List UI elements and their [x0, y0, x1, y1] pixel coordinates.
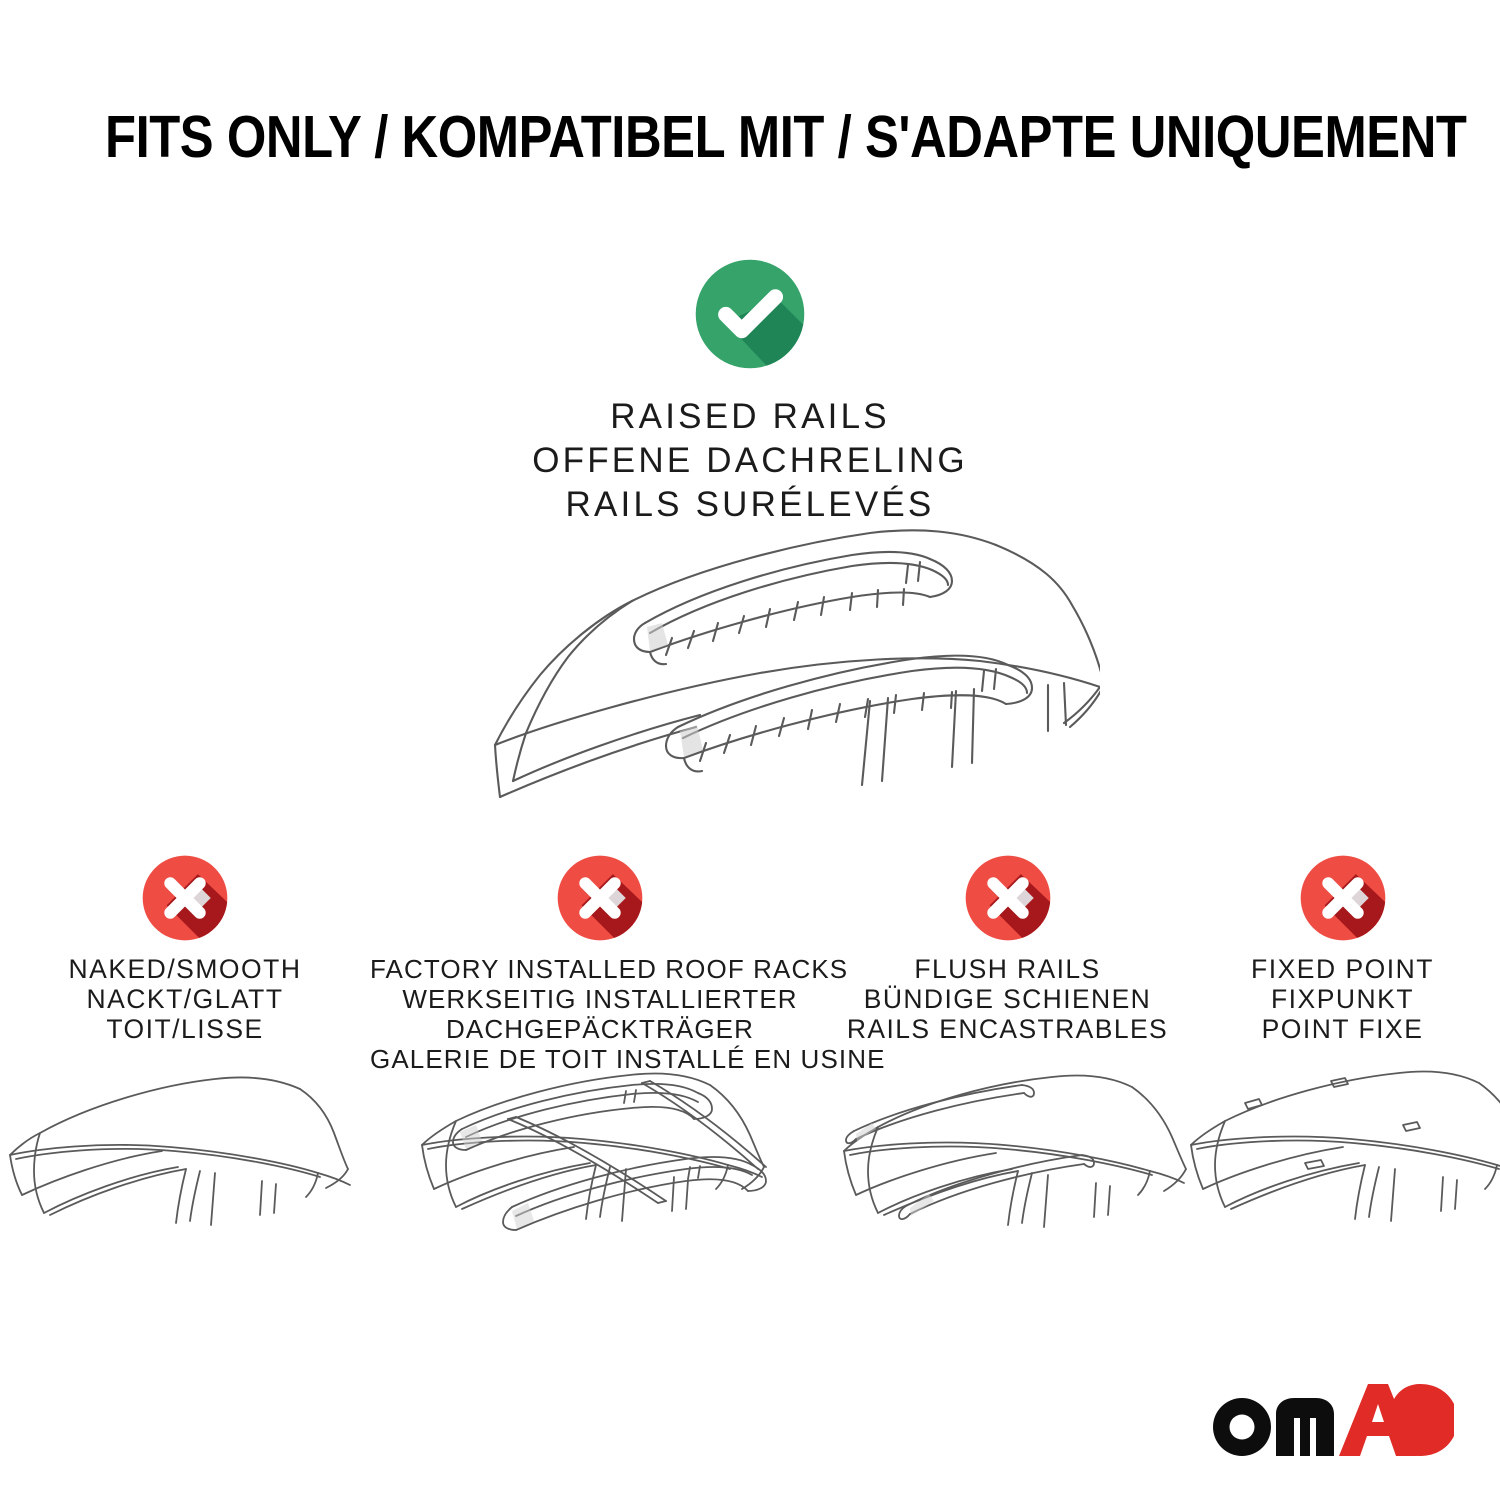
- incompatible-label-en: FLUSH RAILS: [830, 954, 1185, 984]
- incompatible-item-naked-smooth: NAKED/SMOOTH NACKT/GLATT TOIT/LISSE: [0, 852, 370, 1044]
- incompatible-label-fr: RAILS ENCASTRABLES: [830, 1014, 1185, 1044]
- incompatible-label-en: NAKED/SMOOTH: [0, 954, 370, 984]
- car-roof-factory-racks-illustration: [370, 1055, 830, 1295]
- incompatible-label-fr: POINT FIXE: [1185, 1014, 1500, 1044]
- x-circle-icon: [830, 852, 1185, 944]
- compatible-section: RAISED RAILS OFFENE DACHRELING RAILS SUR…: [0, 255, 1500, 527]
- incompatible-item-fixed-point: FIXED POINT FIXPUNKT POINT FIXE: [1185, 852, 1500, 1044]
- compatible-label-en: RAISED RAILS: [0, 395, 1500, 439]
- car-roof-fixed-point-illustration: [1185, 1055, 1500, 1285]
- incompatible-label-de: FIXPUNKT: [1185, 984, 1500, 1014]
- incompatible-label-en: FACTORY INSTALLED ROOF RACKS: [370, 954, 830, 984]
- incompatible-labels: FLUSH RAILS BÜNDIGE SCHIENEN RAILS ENCAS…: [830, 954, 1185, 1044]
- x-circle-icon: [1185, 852, 1500, 944]
- incompatible-illustrations: [0, 1055, 1500, 1295]
- logo-letter-o: [1213, 1398, 1271, 1456]
- page-title: FITS ONLY / KOMPATIBEL MIT / S'ADAPTE UN…: [105, 108, 1395, 167]
- incompatible-label-en: FIXED POINT: [1185, 954, 1500, 984]
- car-roof-flush-rails-illustration: [830, 1055, 1185, 1285]
- incompatible-item-flush-rails: FLUSH RAILS BÜNDIGE SCHIENEN RAILS ENCAS…: [830, 852, 1185, 1044]
- x-circle-icon: [370, 852, 830, 944]
- fitment-infographic: FITS ONLY / KOMPATIBEL MIT / S'ADAPTE UN…: [0, 0, 1500, 1500]
- car-roof-naked-smooth-illustration: [0, 1055, 370, 1285]
- incompatible-labels: NAKED/SMOOTH NACKT/GLATT TOIT/LISSE: [0, 954, 370, 1044]
- x-circle-icon: [0, 852, 370, 944]
- incompatible-labels: FIXED POINT FIXPUNKT POINT FIXE: [1185, 954, 1500, 1044]
- compatible-label-de: OFFENE DACHRELING: [0, 439, 1500, 483]
- logo-letter-c: [1389, 1384, 1454, 1456]
- incompatible-label-de-2: DACHGEPÄCKTRÄGER: [370, 1014, 830, 1044]
- check-circle-icon: [0, 255, 1500, 373]
- car-roof-raised-rails-illustration: [400, 505, 1100, 835]
- incompatible-label-de: BÜNDIGE SCHIENEN: [830, 984, 1185, 1014]
- incompatible-label-de: NACKT/GLATT: [0, 984, 370, 1014]
- brand-logo: [1206, 1380, 1456, 1458]
- incompatible-label-fr: TOIT/LISSE: [0, 1014, 370, 1044]
- incompatible-item-factory-racks: FACTORY INSTALLED ROOF RACKS WERKSEITIG …: [370, 852, 830, 1074]
- incompatible-section: NAKED/SMOOTH NACKT/GLATT TOIT/LISSE: [0, 852, 1500, 1074]
- logo-letter-m: [1276, 1398, 1334, 1456]
- incompatible-label-de-1: WERKSEITIG INSTALLIERTER: [370, 984, 830, 1014]
